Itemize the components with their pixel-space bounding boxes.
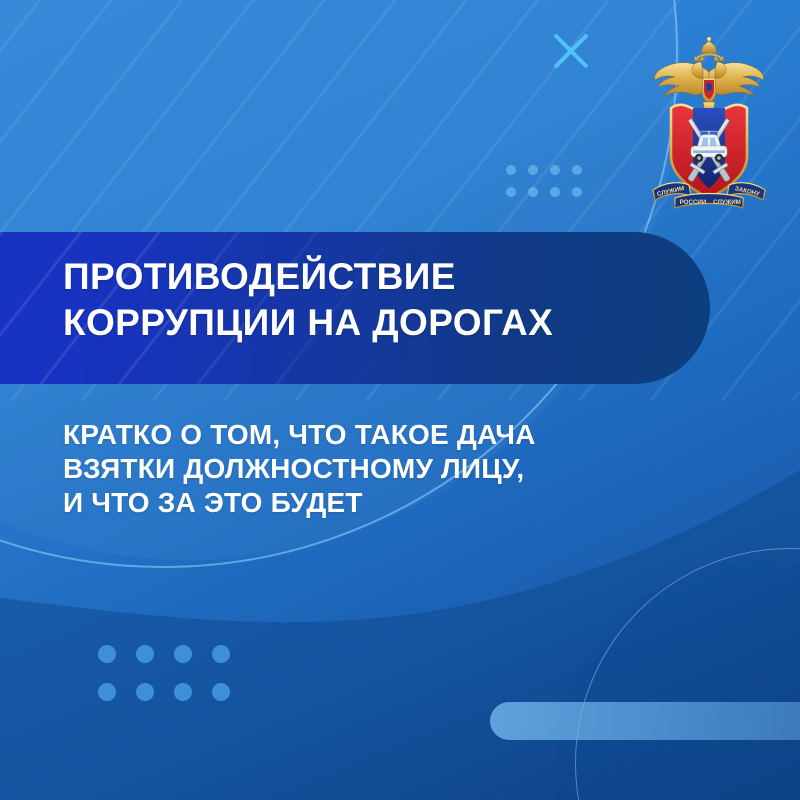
title-banner: ПРОТИВОДЕЙСТВИЕ КОРРУПЦИИ НА ДОРОГАХ <box>0 232 710 384</box>
pill-bar-icon <box>490 702 800 740</box>
dot-grid-top-icon <box>506 165 582 197</box>
dot-grid-bottom-icon <box>98 645 230 701</box>
x-mark-icon <box>548 28 594 74</box>
ribbon-text-center-left: РОССИИ <box>680 199 707 206</box>
poster-canvas: ПРОТИВОДЕЙСТВИЕ КОРРУПЦИИ НА ДОРОГАХ КРА… <box>0 0 800 800</box>
page-title: ПРОТИВОДЕЙСТВИЕ КОРРУПЦИИ НА ДОРОГАХ <box>63 254 670 346</box>
page-subtitle: КРАТКО О ТОМ, ЧТО ТАКОЕ ДАЧА ВЗЯТКИ ДОЛЖ… <box>63 418 703 520</box>
double-headed-eagle-icon <box>655 37 764 116</box>
ribbon-text-center-right: СЛУЖИМ <box>713 199 741 206</box>
mvd-gibdd-emblem: СЛУЖИМ ЗАКОНУ РОССИИ СЛУЖИМ <box>645 32 773 212</box>
